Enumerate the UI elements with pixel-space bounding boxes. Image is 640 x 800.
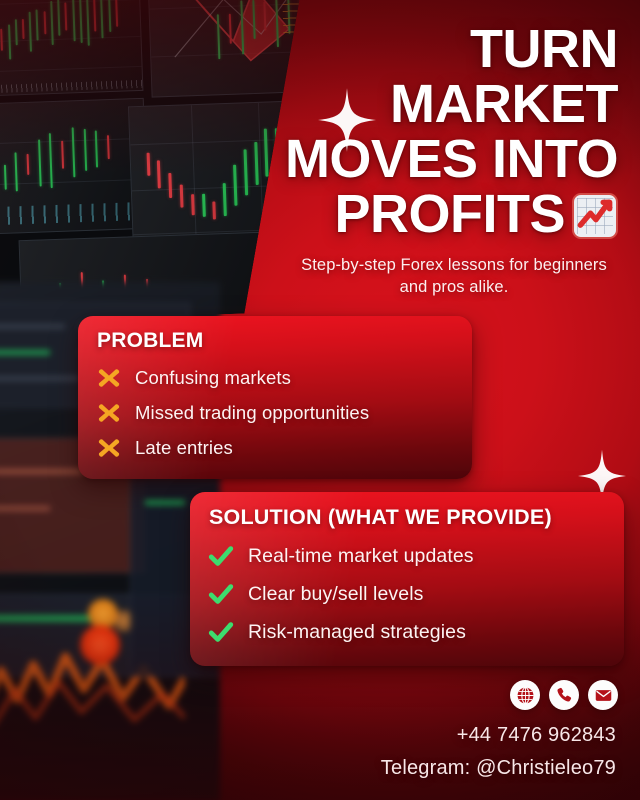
list-item-label: Real-time market updates bbox=[248, 545, 474, 568]
subtitle: Step-by-step Forex lessons for beginners… bbox=[294, 254, 614, 299]
envelope-icon[interactable] bbox=[588, 680, 618, 710]
list-item: Real-time market updates bbox=[208, 537, 606, 575]
cross-mark-icon bbox=[96, 365, 122, 391]
contact-icon-row bbox=[510, 680, 618, 710]
solution-card-title: SOLUTION (WHAT WE PROVIDE) bbox=[209, 505, 606, 530]
cross-mark-icon bbox=[96, 400, 122, 426]
problem-card: PROBLEM Confusing markets Missed trading… bbox=[78, 316, 472, 479]
telegram-handle[interactable]: Telegram: @Christieleo79 bbox=[381, 757, 616, 780]
headline-line-2: MARKET bbox=[218, 77, 618, 132]
list-item: Missed trading opportunities bbox=[96, 395, 454, 430]
problem-list: Confusing markets Missed trading opportu… bbox=[96, 360, 454, 465]
list-item-label: Clear buy/sell levels bbox=[248, 583, 424, 606]
headline-line-4-text: PROFITS bbox=[334, 184, 565, 244]
list-item-label: Risk-managed strategies bbox=[248, 621, 466, 644]
list-item: Risk-managed strategies bbox=[208, 613, 606, 651]
promo-poster: TURN MARKET MOVES INTO PROFITS Step-by-s… bbox=[0, 0, 640, 800]
headline-line-4: PROFITS bbox=[218, 187, 618, 249]
check-mark-icon bbox=[208, 581, 234, 607]
list-item-label: Confusing markets bbox=[135, 367, 291, 389]
list-item: Confusing markets bbox=[96, 360, 454, 395]
list-item-label: Late entries bbox=[135, 437, 233, 459]
problem-card-title: PROBLEM bbox=[97, 329, 454, 353]
globe-icon[interactable] bbox=[510, 680, 540, 710]
cross-mark-icon bbox=[96, 435, 122, 461]
list-item-label: Missed trading opportunities bbox=[135, 402, 369, 424]
list-item: Late entries bbox=[96, 430, 454, 465]
headline-line-3: MOVES INTO bbox=[218, 132, 618, 187]
check-mark-icon bbox=[208, 543, 234, 569]
list-item: Clear buy/sell levels bbox=[208, 575, 606, 613]
solution-card: SOLUTION (WHAT WE PROVIDE) Real-time mar… bbox=[190, 492, 624, 666]
headline-line-1: TURN bbox=[218, 22, 618, 77]
chart-increasing-emoji bbox=[572, 193, 618, 249]
check-mark-icon bbox=[208, 619, 234, 645]
phone-icon[interactable] bbox=[549, 680, 579, 710]
headline: TURN MARKET MOVES INTO PROFITS bbox=[218, 22, 618, 249]
phone-number[interactable]: +44 7476 962843 bbox=[457, 724, 616, 747]
solution-list: Real-time market updates Clear buy/sell … bbox=[208, 537, 606, 651]
chart-increasing-line bbox=[574, 195, 616, 237]
